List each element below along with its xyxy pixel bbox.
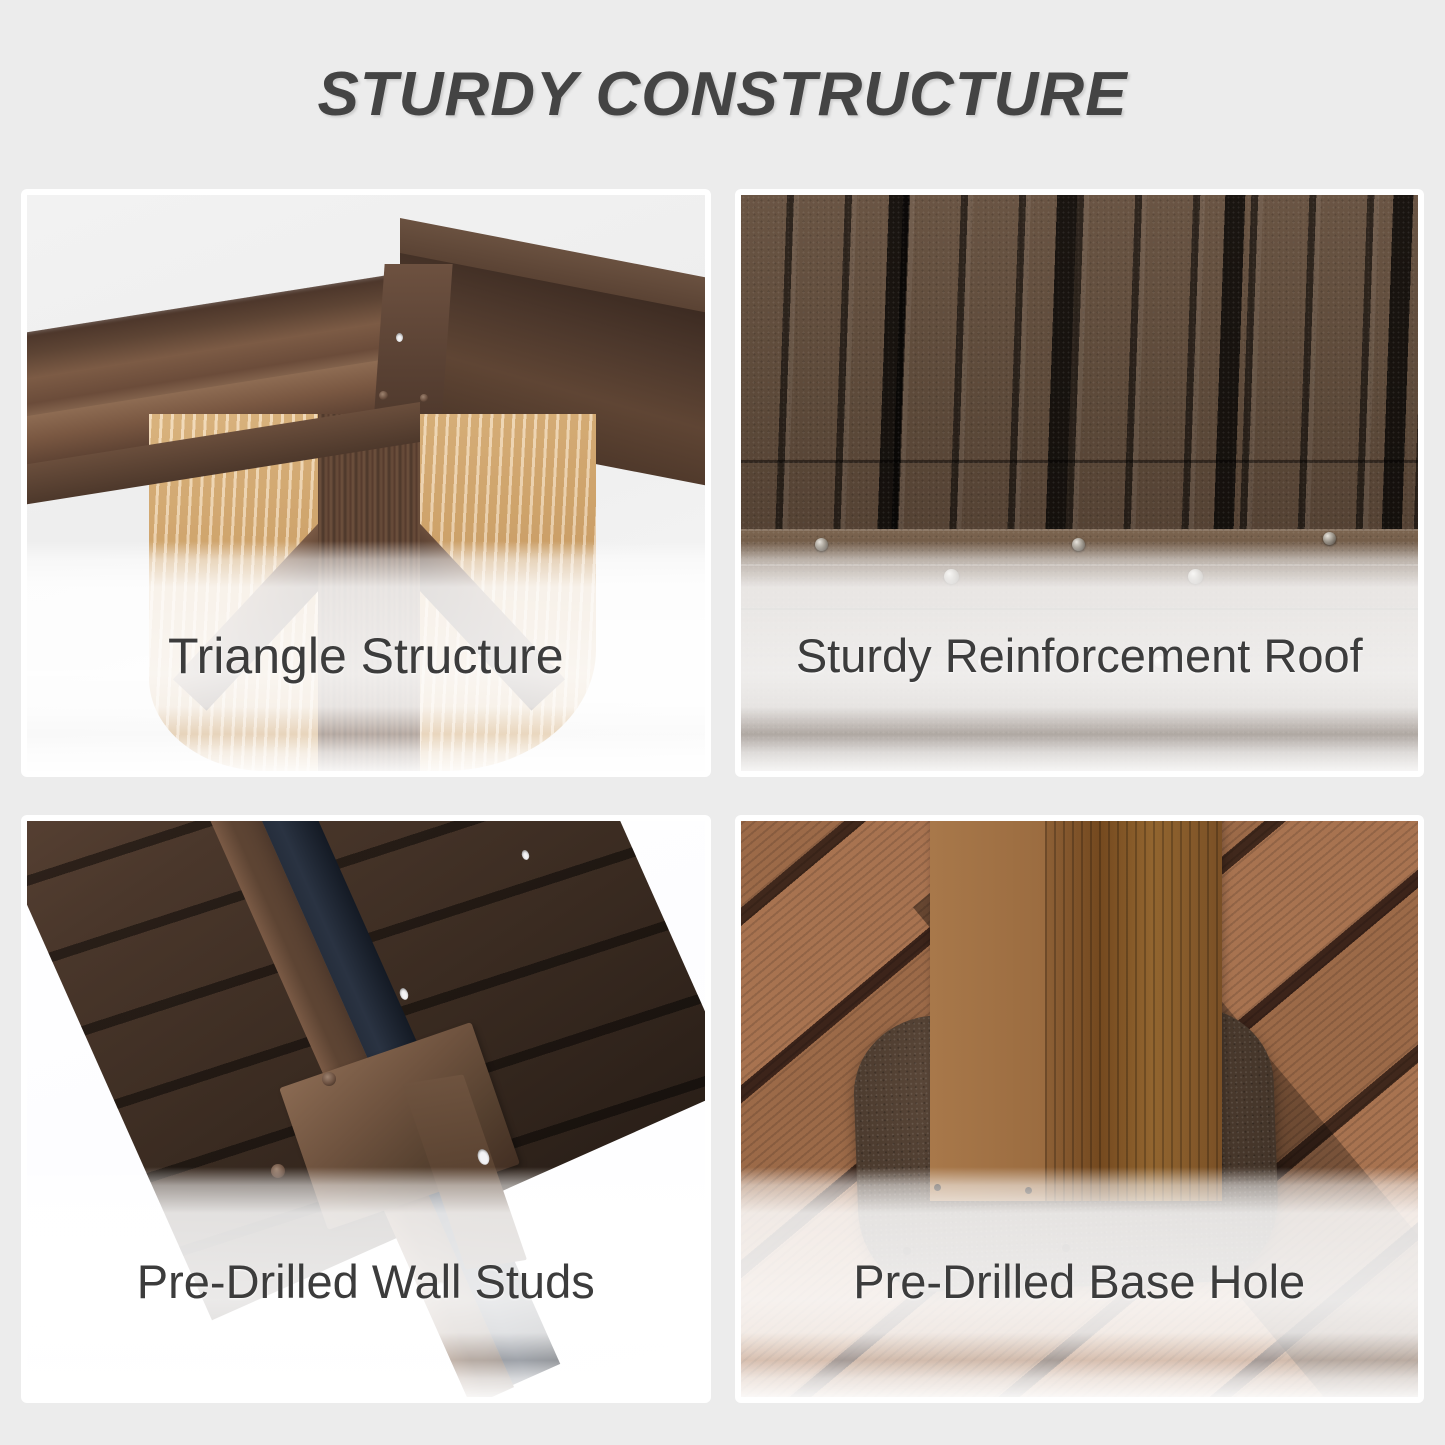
pre-drilled-hole	[934, 1184, 941, 1191]
feature-panel-triangle-structure[interactable]: Triangle Structure	[22, 190, 710, 776]
photo-triangle-structure	[27, 195, 705, 771]
feature-panel-grid: Triangle Structure Stu	[22, 190, 1423, 1402]
bolt-icon	[1323, 532, 1336, 545]
infographic-page: STURDY CONSTRUCTURE Tria	[0, 0, 1445, 1445]
bolt-icon	[1154, 656, 1166, 668]
page-title: STURDY CONSTRUCTURE	[317, 59, 1127, 130]
post-front-face	[930, 821, 1045, 1201]
photo-pre-drilled-wall-studs	[27, 821, 705, 1397]
texture-overlay	[741, 195, 1419, 771]
screw-icon	[271, 1164, 285, 1178]
title-bar: STURDY CONSTRUCTURE	[0, 0, 1445, 188]
bolt-icon	[978, 656, 990, 668]
screw-icon	[420, 394, 428, 402]
feature-panel-sturdy-reinforcement-roof[interactable]: Sturdy Reinforcement Roof	[736, 190, 1424, 776]
photo-pre-drilled-base-hole	[741, 821, 1419, 1397]
photo-sturdy-reinforcement-roof	[741, 195, 1419, 771]
screw-icon	[322, 1072, 336, 1086]
feature-panel-pre-drilled-wall-studs[interactable]: Pre-Drilled Wall Studs	[22, 816, 710, 1402]
bolt-icon	[1188, 569, 1203, 584]
support-post	[318, 414, 420, 771]
bolt-icon	[815, 538, 828, 551]
feature-panel-pre-drilled-base-hole[interactable]: Pre-Drilled Base Hole	[736, 816, 1424, 1402]
corner-cap	[374, 264, 453, 425]
pre-drilled-hole	[1025, 1187, 1032, 1194]
